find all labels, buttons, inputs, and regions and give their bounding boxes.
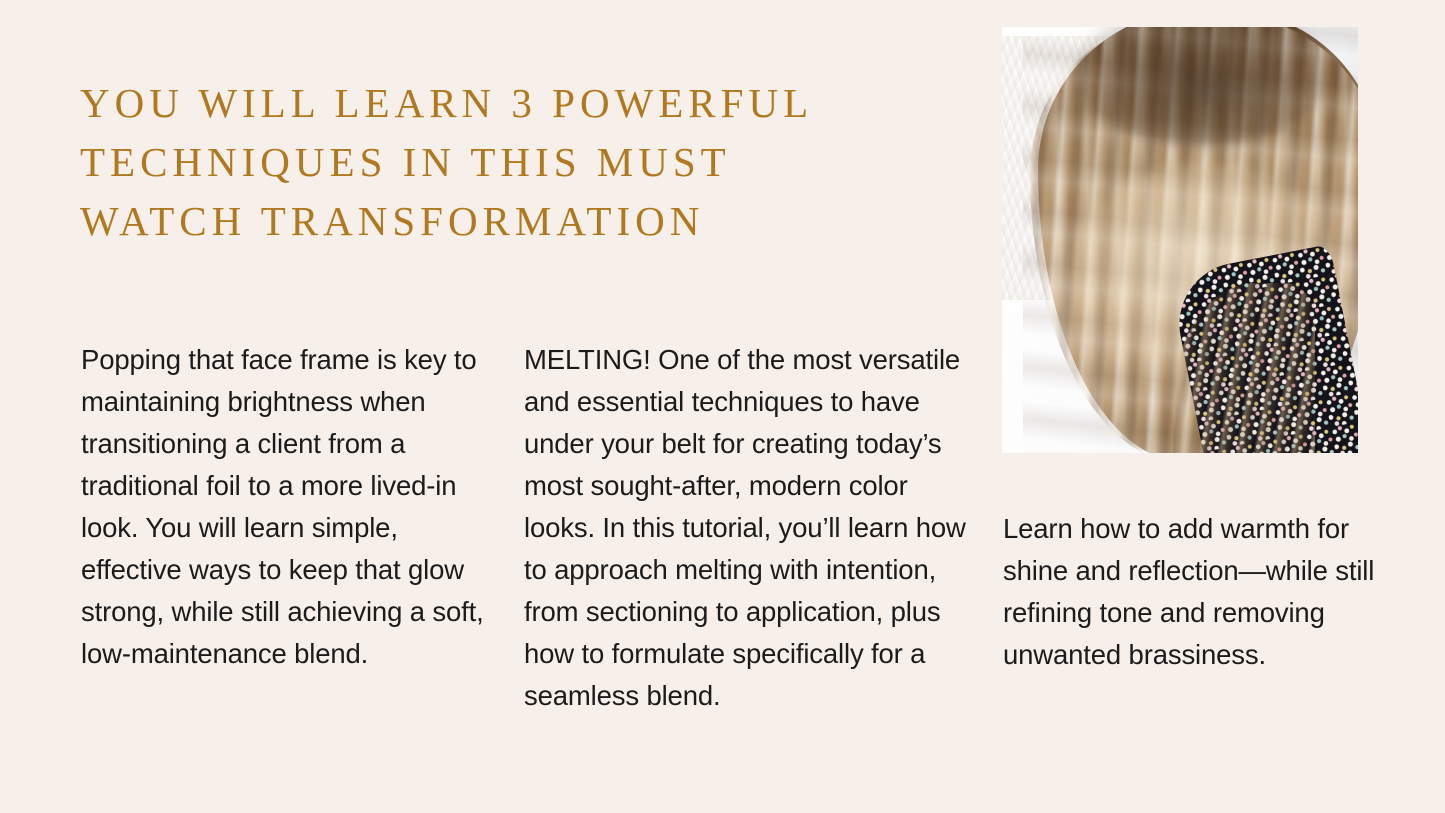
body-column-1: Popping that face frame is key to mainta… <box>81 339 493 675</box>
body-column-2: MELTING! One of the most versatile and e… <box>524 339 970 717</box>
hair-photo <box>1002 27 1358 453</box>
hair-photo-image <box>1002 27 1358 453</box>
body-column-3: Learn how to add warmth for shine and re… <box>1003 508 1395 676</box>
page-title: You will learn 3 powerful techniques in … <box>80 74 840 251</box>
promo-panel: You will learn 3 powerful techniques in … <box>0 0 1445 813</box>
